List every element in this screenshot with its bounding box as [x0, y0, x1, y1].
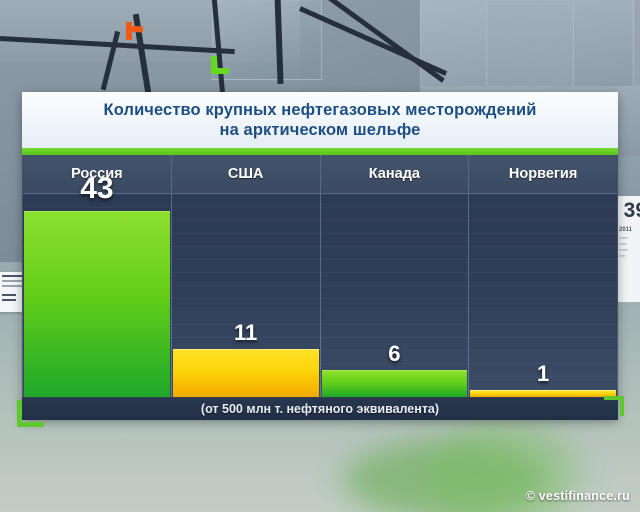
column-body-usa: 11: [172, 194, 320, 397]
background-figure-year: 2011: [616, 221, 640, 233]
chart-plot-area: Россия 43 США 11 Канада: [22, 155, 618, 397]
column-body-canada: 6: [321, 194, 469, 397]
chart-footnote: (от 500 млн т. нефтяного эквивалента): [201, 402, 439, 416]
screenshot-stage: 39 2011 ▪▪▪▪▪▪▪▪▪▪▪▪▪▪▪▪▪▪▪▪▪▪▪▪▪ Количе…: [0, 0, 640, 512]
card-line: [2, 275, 24, 277]
green-marker-vertical: [211, 56, 217, 74]
column-header-canada: Канада: [321, 155, 469, 194]
chart-column-russia: Россия 43: [23, 155, 172, 397]
bar-norway: [470, 390, 616, 397]
bar-canada: [322, 370, 468, 397]
bar-value-norway: 1: [469, 361, 617, 387]
bar-value-russia: 43: [23, 172, 171, 206]
column-header-norway: Норвегия: [469, 155, 617, 194]
bar-usa: [173, 349, 319, 397]
column-header-label: Канада: [369, 166, 420, 182]
column-body-russia: 43: [23, 194, 171, 397]
chart-column-norway: Норвегия 1: [469, 155, 617, 397]
chart-footnote-bar: (от 500 млн т. нефтяного эквивалента): [22, 397, 618, 420]
infographic-chart: Количество крупных нефтегазовых месторож…: [22, 92, 618, 419]
chart-column-usa: США 11: [172, 155, 321, 397]
chart-title-line-1: Количество крупных нефтегазовых месторож…: [104, 100, 537, 120]
card-line: [2, 294, 16, 296]
orange-marker-vertical: [126, 22, 132, 40]
bar-value-usa: 11: [172, 320, 320, 346]
card-line: [2, 299, 16, 301]
background-figure-text: ▪▪▪▪▪▪▪▪▪▪▪▪▪▪▪▪▪▪▪▪▪▪▪▪▪: [616, 233, 640, 261]
chart-title: Количество крупных нефтегазовых месторож…: [104, 100, 537, 140]
background-figure-number: 39: [616, 196, 640, 221]
green-corner-bracket-bottom-left: [17, 400, 44, 427]
bar-russia: [24, 211, 170, 397]
column-header-label: Норвегия: [509, 166, 577, 182]
column-header-usa: США: [172, 155, 320, 194]
column-header-label: США: [228, 166, 264, 182]
green-divider-rule: [22, 148, 618, 155]
bar-value-canada: 6: [321, 341, 469, 367]
green-corner-bracket-bottom-right: [604, 396, 624, 416]
background-figure-right: 39 2011 ▪▪▪▪▪▪▪▪▪▪▪▪▪▪▪▪▪▪▪▪▪▪▪▪▪: [616, 196, 640, 302]
chart-column-canada: Канада 6: [321, 155, 470, 397]
column-body-norway: 1: [469, 194, 617, 397]
chart-title-bar: Количество крупных нефтегазовых месторож…: [22, 92, 618, 148]
chart-title-line-2: на арктическом шельфе: [104, 120, 537, 140]
watermark: © vestifinance.ru: [526, 489, 630, 503]
